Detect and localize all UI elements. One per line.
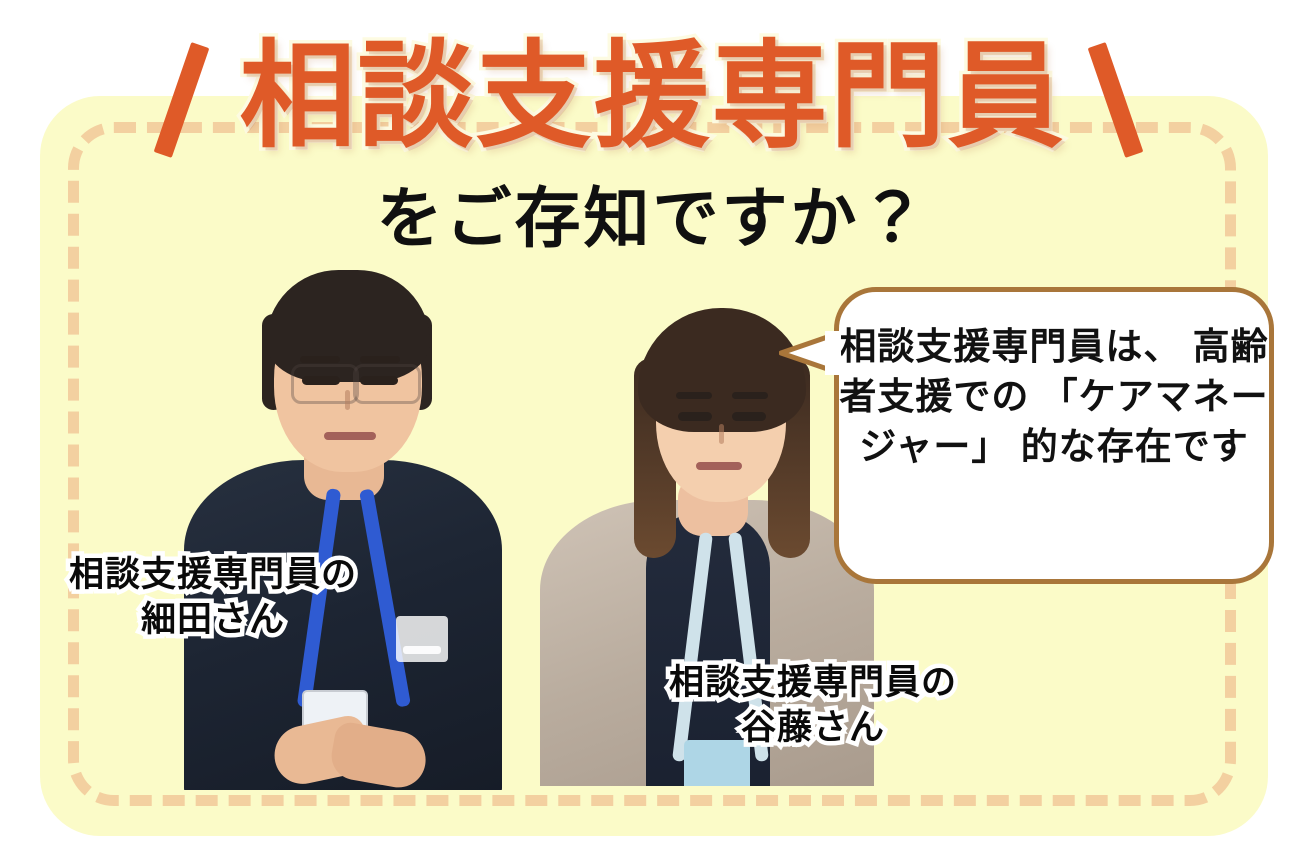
poster-root: 相談支援専門員 をご存知ですか？ bbox=[0, 0, 1305, 867]
caption-hosoda: 相談支援専門員の 細田さん bbox=[48, 552, 378, 642]
tanifuji-brow-left bbox=[676, 392, 712, 399]
hosoda-eye-left bbox=[302, 376, 340, 385]
title-block: 相談支援専門員 bbox=[0, 28, 1305, 164]
caption-tanifuji: 相談支援専門員の 谷藤さん bbox=[648, 660, 978, 750]
tanifuji-eye-left bbox=[678, 412, 712, 421]
hosoda-brow-left bbox=[300, 356, 340, 363]
photo-hosoda bbox=[178, 252, 508, 790]
speech-bubble-tail bbox=[779, 331, 841, 375]
page-title: 相談支援専門員 bbox=[0, 28, 1305, 164]
hosoda-eye-right bbox=[360, 376, 398, 385]
speech-bubble: 相談支援専門員は、 高齢者支援での 「ケアマネージャー」 的な存在です bbox=[834, 287, 1274, 584]
hosoda-brow-right bbox=[360, 356, 400, 363]
page-subtitle: をご存知ですか？ bbox=[0, 176, 1305, 260]
hosoda-mouth bbox=[324, 432, 376, 440]
tanifuji-brow-right bbox=[732, 392, 768, 399]
tanifuji-nose bbox=[719, 424, 724, 444]
speech-bubble-text: 相談支援専門員は、 高齢者支援での 「ケアマネージャー」 的な存在です bbox=[839, 322, 1269, 472]
hosoda-chest-logo bbox=[396, 616, 448, 662]
tanifuji-eye-right bbox=[732, 412, 766, 421]
hosoda-nose bbox=[345, 390, 350, 410]
tanifuji-mouth bbox=[696, 462, 742, 470]
